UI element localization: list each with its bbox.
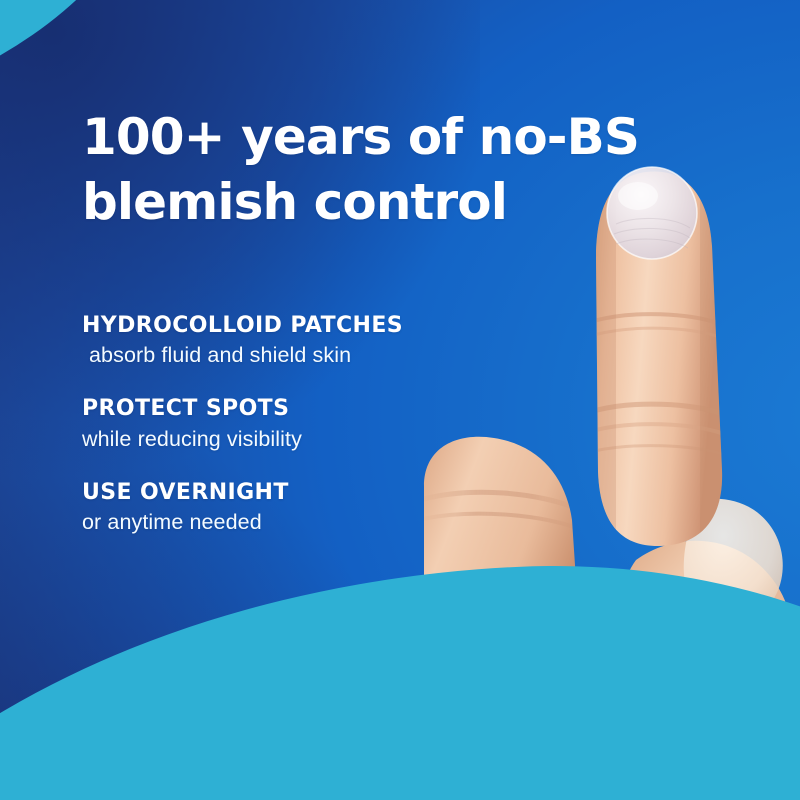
page-title: 100+ years of no-BS blemish control: [82, 105, 662, 235]
benefit-title: PROTECT SPOTS: [82, 396, 512, 422]
headline-line-1: 100+ years of no-BS: [82, 105, 662, 170]
benefit-item-hydrocolloid-patches: HYDROCOLLOID PATCHES absorb fluid and sh…: [82, 313, 512, 370]
benefit-item-protect-spots: PROTECT SPOTS while reducing visibility: [82, 396, 512, 453]
headline-line-2: blemish control: [82, 170, 662, 235]
benefit-title: USE OVERNIGHT: [82, 480, 512, 506]
benefit-title: HYDROCOLLOID PATCHES: [82, 313, 512, 339]
benefit-list: HYDROCOLLOID PATCHES absorb fluid and sh…: [82, 313, 512, 563]
benefit-subtitle: absorb fluid and shield skin: [82, 342, 512, 370]
promo-banner: 100+ years of no-BS blemish control HYDR…: [0, 0, 800, 800]
benefit-subtitle: or anytime needed: [82, 509, 512, 537]
benefit-item-use-overnight: USE OVERNIGHT or anytime needed: [82, 480, 512, 537]
benefit-subtitle: while reducing visibility: [82, 426, 512, 454]
